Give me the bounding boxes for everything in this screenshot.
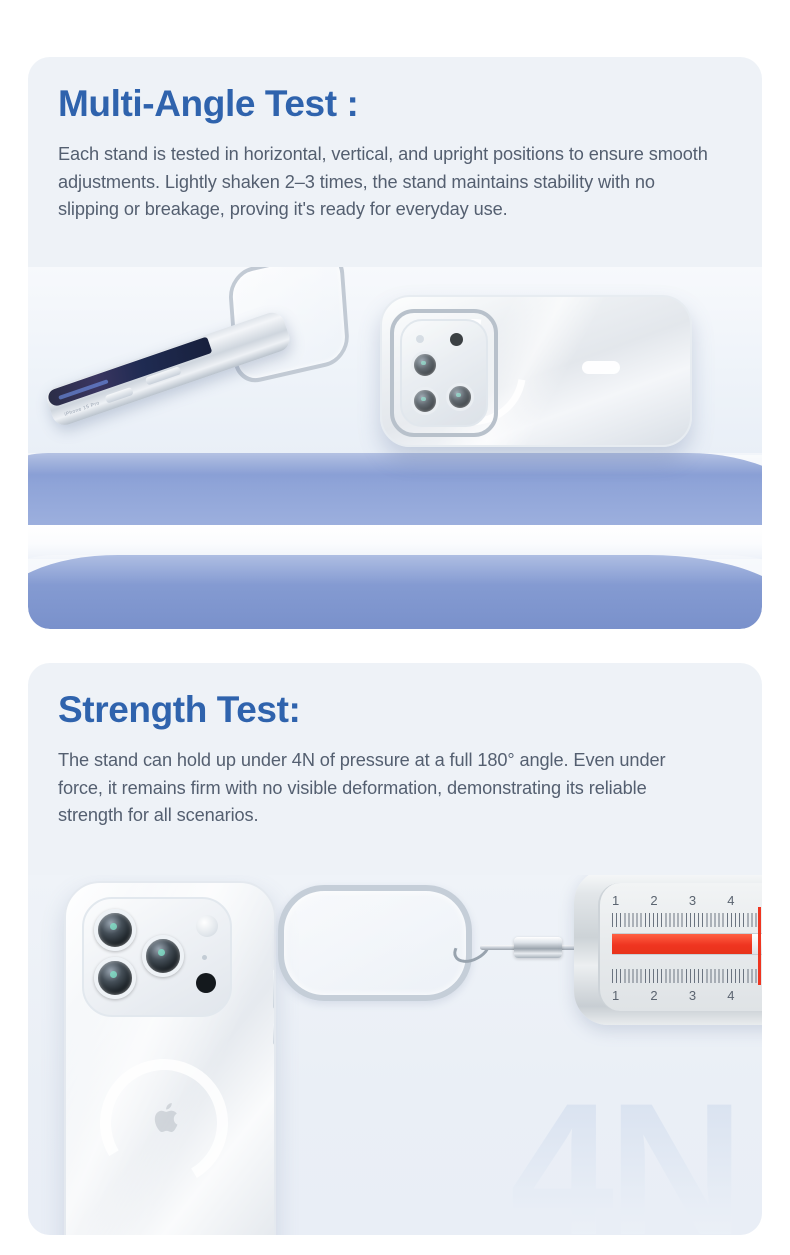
gauge-scale-bottom: 1 2 3 4 5 bbox=[612, 988, 762, 1003]
platform-lower bbox=[28, 555, 762, 629]
phone-button-volume bbox=[273, 969, 276, 1009]
gauge-scale-top: 1 2 3 4 5 bbox=[612, 893, 762, 908]
strength-test-photo: 4N bbox=[28, 875, 762, 1235]
page-title: Multi-Angle Test : bbox=[58, 85, 732, 124]
phone-screen-left bbox=[46, 337, 212, 408]
camera-module-closeup bbox=[82, 897, 232, 1017]
camera-lens bbox=[94, 957, 136, 999]
gauge-tick-label: 1 bbox=[612, 893, 650, 908]
multi-angle-description: Each stand is tested in horizontal, vert… bbox=[58, 141, 708, 224]
phone-button-action bbox=[273, 1023, 276, 1045]
phone-closeup bbox=[64, 881, 276, 1235]
strength-description: The stand can hold up under 4N of pressu… bbox=[58, 747, 708, 830]
gauge-bar-fill bbox=[612, 934, 752, 954]
apple-logo-icon bbox=[152, 1101, 182, 1135]
lidar-icon bbox=[196, 973, 216, 993]
flash-icon bbox=[196, 915, 218, 937]
force-gauge: 1 2 3 4 5 1 2 3 4 bbox=[574, 875, 762, 1025]
kickstand-ring-under-test bbox=[278, 885, 472, 1001]
gauge-bar-track bbox=[612, 933, 762, 955]
phone-landscape bbox=[380, 295, 692, 447]
camera-lens bbox=[142, 935, 184, 977]
gauge-tick-label: 2 bbox=[650, 988, 688, 1003]
gauge-tick-label: 2 bbox=[650, 893, 688, 908]
kickstand-ring-right bbox=[390, 309, 498, 437]
gauge-needle bbox=[758, 907, 761, 985]
platform-gap bbox=[28, 525, 762, 559]
product-detail-page: Multi-Angle Test : Each stand is tested … bbox=[0, 0, 790, 1255]
gauge-tick-label: 3 bbox=[689, 893, 727, 908]
multi-angle-test-card: Multi-Angle Test : Each stand is tested … bbox=[28, 57, 762, 629]
gauge-tick-label: 4 bbox=[727, 893, 762, 908]
gauge-ticks-bottom bbox=[612, 969, 762, 983]
camera-lens bbox=[94, 909, 136, 951]
strength-header: Strength Test: The stand can hold up und… bbox=[28, 663, 762, 830]
microphone-icon bbox=[202, 955, 207, 960]
gauge-rod-collar bbox=[514, 937, 562, 958]
gauge-face: 1 2 3 4 5 1 2 3 4 bbox=[598, 883, 762, 1011]
multi-angle-header: Multi-Angle Test : Each stand is tested … bbox=[28, 57, 762, 224]
gauge-tick-label: 4 bbox=[727, 988, 762, 1003]
section-title: Strength Test: bbox=[58, 691, 732, 730]
force-watermark: 4N bbox=[510, 1075, 738, 1235]
gauge-tick-label: 1 bbox=[612, 988, 650, 1003]
strength-test-card: Strength Test: The stand can hold up und… bbox=[28, 663, 762, 1235]
phone-button-action bbox=[105, 387, 134, 404]
gauge-tick-label: 3 bbox=[689, 988, 727, 1003]
multi-angle-photo: iPhone 15 Pro bbox=[28, 267, 762, 629]
phone-model-label: iPhone 15 Pro bbox=[64, 400, 101, 418]
gauge-ticks-top bbox=[612, 913, 762, 927]
